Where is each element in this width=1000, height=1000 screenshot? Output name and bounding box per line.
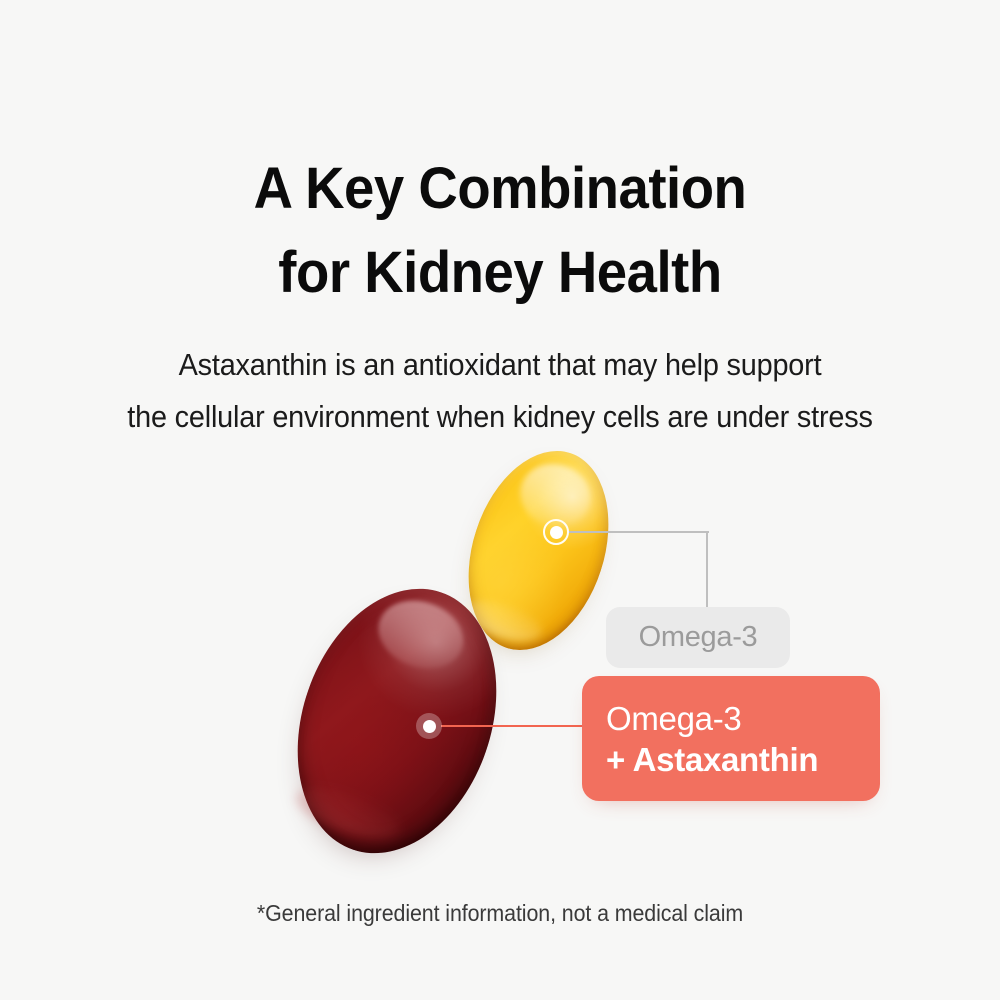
dot-marker-icon-red-capsule: [416, 713, 442, 739]
callout-omega3-astaxanthin-label-line-2: + Astaxanthin: [606, 739, 818, 780]
promo-card: A Key Combination for Kidney Health Asta…: [0, 0, 1000, 1000]
connector-line-horizontal-gray: [568, 531, 709, 533]
disclaimer-footnote: *General ingredient information, not a m…: [35, 900, 965, 927]
dot-core: [423, 720, 436, 733]
product-illustration: Omega-3 Omega-3 + Astaxanthin: [0, 0, 1000, 1000]
callout-omega3-astaxanthin: Omega-3 + Astaxanthin: [582, 676, 880, 801]
connector-line-vertical-gray: [706, 531, 708, 611]
connector-line-horizontal-red: [441, 725, 587, 727]
dot-core: [550, 526, 563, 539]
callout-omega3-label: Omega-3: [639, 623, 758, 652]
callout-omega3: Omega-3: [606, 607, 790, 668]
dot-marker-icon-yellow-capsule: [543, 519, 569, 545]
callout-omega3-astaxanthin-label-line-1: Omega-3: [606, 698, 741, 739]
